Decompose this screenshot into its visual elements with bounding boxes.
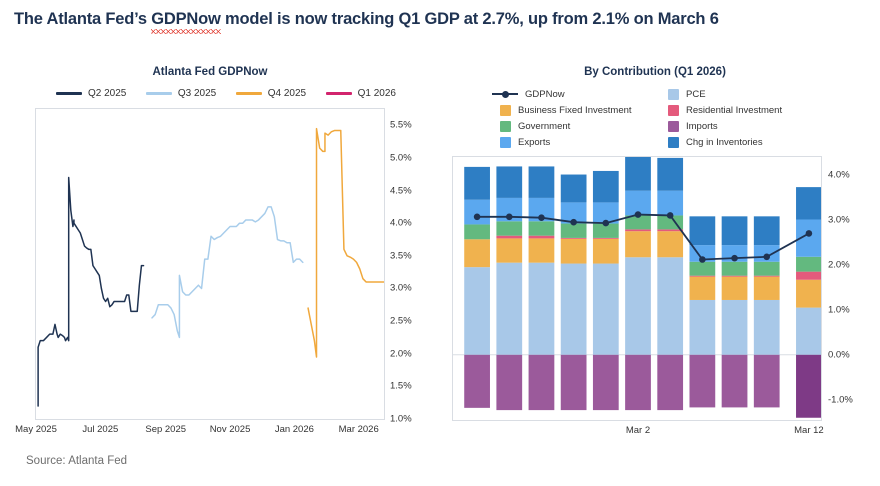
y-axis-tick-label: 2.5% [390,316,412,327]
bar-segment-business-fixed-investment [796,280,821,308]
headline-text-after: model is now tracking Q1 GDP at 2.7%, up… [221,10,719,28]
bar-segment-exports [464,200,490,225]
y-axis-tick-label: 3.0% [390,283,412,294]
bar-segment-chg-in-inventories [593,171,619,202]
y-axis-tick-label: 2.0% [828,259,850,270]
page-title: The Atlanta Fed’s GDPNow model is now tr… [14,10,870,29]
bar-segment-business-fixed-investment [529,238,555,262]
bar-segment-residential-investment [796,272,821,280]
x-axis-tick-label: May 2025 [15,424,57,435]
overlay-point-marker [570,219,577,226]
bar-segment-chg-in-inventories [496,166,522,197]
bar-segment-imports [496,355,522,410]
bar-segment-government [689,262,715,276]
bar-segment-pce [529,263,555,355]
overlay-point-marker [603,220,610,227]
bar-segment-residential-investment [593,238,619,239]
legend-item-residential-investment[interactable]: Residential Investment [666,105,834,116]
bar-segment-government [796,257,821,272]
left-chart-panel: Atlanta Fed GDPNow Q2 2025Q3 2025Q4 2025… [0,60,440,450]
y-axis-tick-label: 5.0% [390,152,412,163]
overlay-point-marker [699,256,706,263]
bar-segment-residential-investment [496,236,522,239]
bar-segment-residential-investment [529,236,555,239]
legend-color-swatch-icon [668,137,679,148]
left-chart-plot-area [35,108,385,420]
legend-color-swatch-icon [500,121,511,132]
y-axis-tick-label: 2.0% [390,348,412,359]
bar-segment-business-fixed-investment [464,239,490,267]
legend-item-government[interactable]: Government [498,121,666,132]
bar-segment-government [529,221,555,235]
bar-segment-business-fixed-investment [593,239,619,264]
bar-segment-government [496,221,522,235]
x-axis-tick-label: Mar 2026 [339,424,379,435]
overlay-point-marker [763,254,770,261]
legend-item-label: Exports [518,137,550,148]
bar-segment-business-fixed-investment [754,277,780,300]
legend-line-swatch-icon [56,92,82,95]
legend-item-exports[interactable]: Exports [498,137,666,148]
bar-segment-imports [689,355,715,408]
legend-item-q4-2025[interactable]: Q4 2025 [236,88,306,99]
overlay-point-marker [806,230,813,237]
bar-segment-chg-in-inventories [689,216,715,245]
bar-segment-residential-investment [754,276,780,277]
legend-item-label: PCE [686,89,706,100]
bar-segment-pce [625,257,651,355]
legend-item-q2-2025[interactable]: Q2 2025 [56,88,126,99]
bar-segment-chg-in-inventories [722,216,748,245]
right-chart-x-axis: Mar 2Mar 12 [440,425,880,445]
right-chart-svg [453,157,821,420]
bar-segment-pce [796,308,821,355]
bar-segment-chg-in-inventories [625,157,651,191]
bar-segment-pce [657,257,683,355]
x-axis-tick-label: Nov 2025 [210,424,251,435]
left-chart-y-axis: 1.0%1.5%2.0%2.5%3.0%3.5%4.0%4.5%5.0%5.5% [390,108,436,420]
source-note: Source: Atlanta Fed [26,455,127,467]
bar-segment-business-fixed-investment [689,277,715,300]
bar-segment-chg-in-inventories [796,187,821,219]
line-series-q4-2025 [308,129,384,357]
legend-line-swatch-icon [236,92,262,95]
bar-segment-business-fixed-investment [496,238,522,262]
bar-segment-business-fixed-investment [625,231,651,257]
legend-item-label: Government [518,121,570,132]
bar-segment-pce [561,264,587,355]
bar-segment-pce [689,300,715,355]
bar-segment-residential-investment [689,276,715,277]
legend-item-label: Chg in Inventories [686,137,763,148]
right-chart-y-axis: -1.0%0.0%1.0%2.0%3.0%4.0% [828,156,878,421]
legend-color-swatch-icon [668,89,679,100]
y-axis-tick-label: 0.0% [828,349,850,360]
bar-segment-government [464,224,490,239]
x-axis-tick-label: Mar 2 [626,425,650,436]
y-axis-tick-label: -1.0% [828,394,853,405]
bar-segment-imports [754,355,780,408]
bar-segment-chg-in-inventories [657,158,683,191]
bar-segment-pce [593,264,619,355]
bar-segment-pce [722,300,748,355]
legend-color-swatch-icon [500,137,511,148]
legend-item-chg-in-inventories[interactable]: Chg in Inventories [666,137,834,148]
y-axis-tick-label: 3.0% [828,214,850,225]
line-series-q3-2025 [152,207,303,338]
bar-segment-business-fixed-investment [657,231,683,257]
legend-item-label: Q4 2025 [268,88,306,99]
legend-item-q3-2025[interactable]: Q3 2025 [146,88,216,99]
legend-line-swatch-icon [326,92,352,95]
overlay-point-marker [538,214,545,221]
legend-item-label: Q1 2026 [358,88,396,99]
y-axis-tick-label: 1.0% [828,304,850,315]
bar-segment-imports [657,355,683,410]
right-chart-panel: By Contribution (Q1 2026) GDPNowPCEBusin… [440,60,880,450]
bar-segment-pce [754,300,780,355]
left-chart-legend: Q2 2025Q3 2025Q4 2025Q1 2026 [56,88,396,99]
overlay-point-marker [474,213,481,220]
legend-item-label: Q3 2025 [178,88,216,99]
legend-color-swatch-icon [500,105,511,116]
bar-segment-chg-in-inventories [464,167,490,200]
right-chart-title: By Contribution (Q1 2026) [440,66,870,78]
x-axis-tick-label: Jan 2026 [275,424,314,435]
y-axis-tick-label: 4.0% [390,218,412,229]
bar-segment-imports [625,355,651,410]
x-axis-tick-label: Jul 2025 [82,424,118,435]
bar-segment-pce [496,263,522,355]
legend-item-label: Residential Investment [686,105,782,116]
legend-item-label: Imports [686,121,718,132]
bar-segment-exports [657,191,683,216]
bar-segment-residential-investment [625,229,651,231]
bar-segment-imports [464,355,490,408]
right-chart-plot-area [452,156,822,421]
bar-segment-imports [593,355,619,410]
legend-color-swatch-icon [668,105,679,116]
y-axis-tick-label: 5.5% [390,120,412,131]
legend-item-label: Business Fixed Investment [518,105,632,116]
bar-segment-imports [529,355,555,410]
left-chart-svg [36,109,384,419]
line-series-q2-2025 [38,178,143,406]
bar-segment-residential-investment [722,276,748,277]
bar-segment-imports [722,355,748,408]
overlay-point-marker [506,213,513,220]
y-axis-tick-label: 4.5% [390,185,412,196]
overlay-point-marker [731,255,738,262]
y-axis-tick-label: 1.5% [390,381,412,392]
bar-segment-pce [464,267,490,355]
bar-segment-imports [796,355,821,418]
bar-segment-chg-in-inventories [561,175,587,203]
overlay-point-marker [667,212,674,219]
y-axis-tick-label: 1.0% [390,414,412,425]
bar-segment-business-fixed-investment [561,239,587,264]
overlay-point-marker [635,211,642,218]
legend-item-label: GDPNow [525,89,565,100]
x-axis-tick-label: Mar 12 [794,425,824,436]
y-axis-tick-label: 3.5% [390,250,412,261]
legend-item-label: Q2 2025 [88,88,126,99]
spellcheck-misspelled-word: GDPNow [151,10,220,29]
bar-segment-imports [561,355,587,410]
right-chart-legend: GDPNowPCEBusiness Fixed InvestmentReside… [498,86,838,150]
legend-item-business-fixed-investment[interactable]: Business Fixed Investment [498,105,666,116]
bar-segment-residential-investment [657,229,683,231]
headline-text-before: The Atlanta Fed’s [14,10,151,28]
bar-segment-business-fixed-investment [722,277,748,300]
bar-segment-government [561,224,587,238]
legend-color-swatch-icon [668,121,679,132]
bar-segment-government [754,262,780,276]
legend-item-pce[interactable]: PCE [666,89,834,100]
bar-segment-residential-investment [561,238,587,239]
legend-item-gdpnow[interactable]: GDPNow [498,89,666,100]
legend-item-q1-2026[interactable]: Q1 2026 [326,88,396,99]
legend-line-dot-icon [492,89,518,100]
left-chart-x-axis: May 2025Jul 2025Sep 2025Nov 2025Jan 2026… [0,424,440,444]
x-axis-tick-label: Sep 2025 [145,424,186,435]
left-chart-title: Atlanta Fed GDPNow [0,66,420,78]
y-axis-tick-label: 4.0% [828,169,850,180]
bar-segment-chg-in-inventories [754,216,780,245]
legend-line-swatch-icon [146,92,172,95]
legend-item-imports[interactable]: Imports [666,121,834,132]
bar-segment-chg-in-inventories [529,166,555,197]
bar-segment-government [722,262,748,276]
